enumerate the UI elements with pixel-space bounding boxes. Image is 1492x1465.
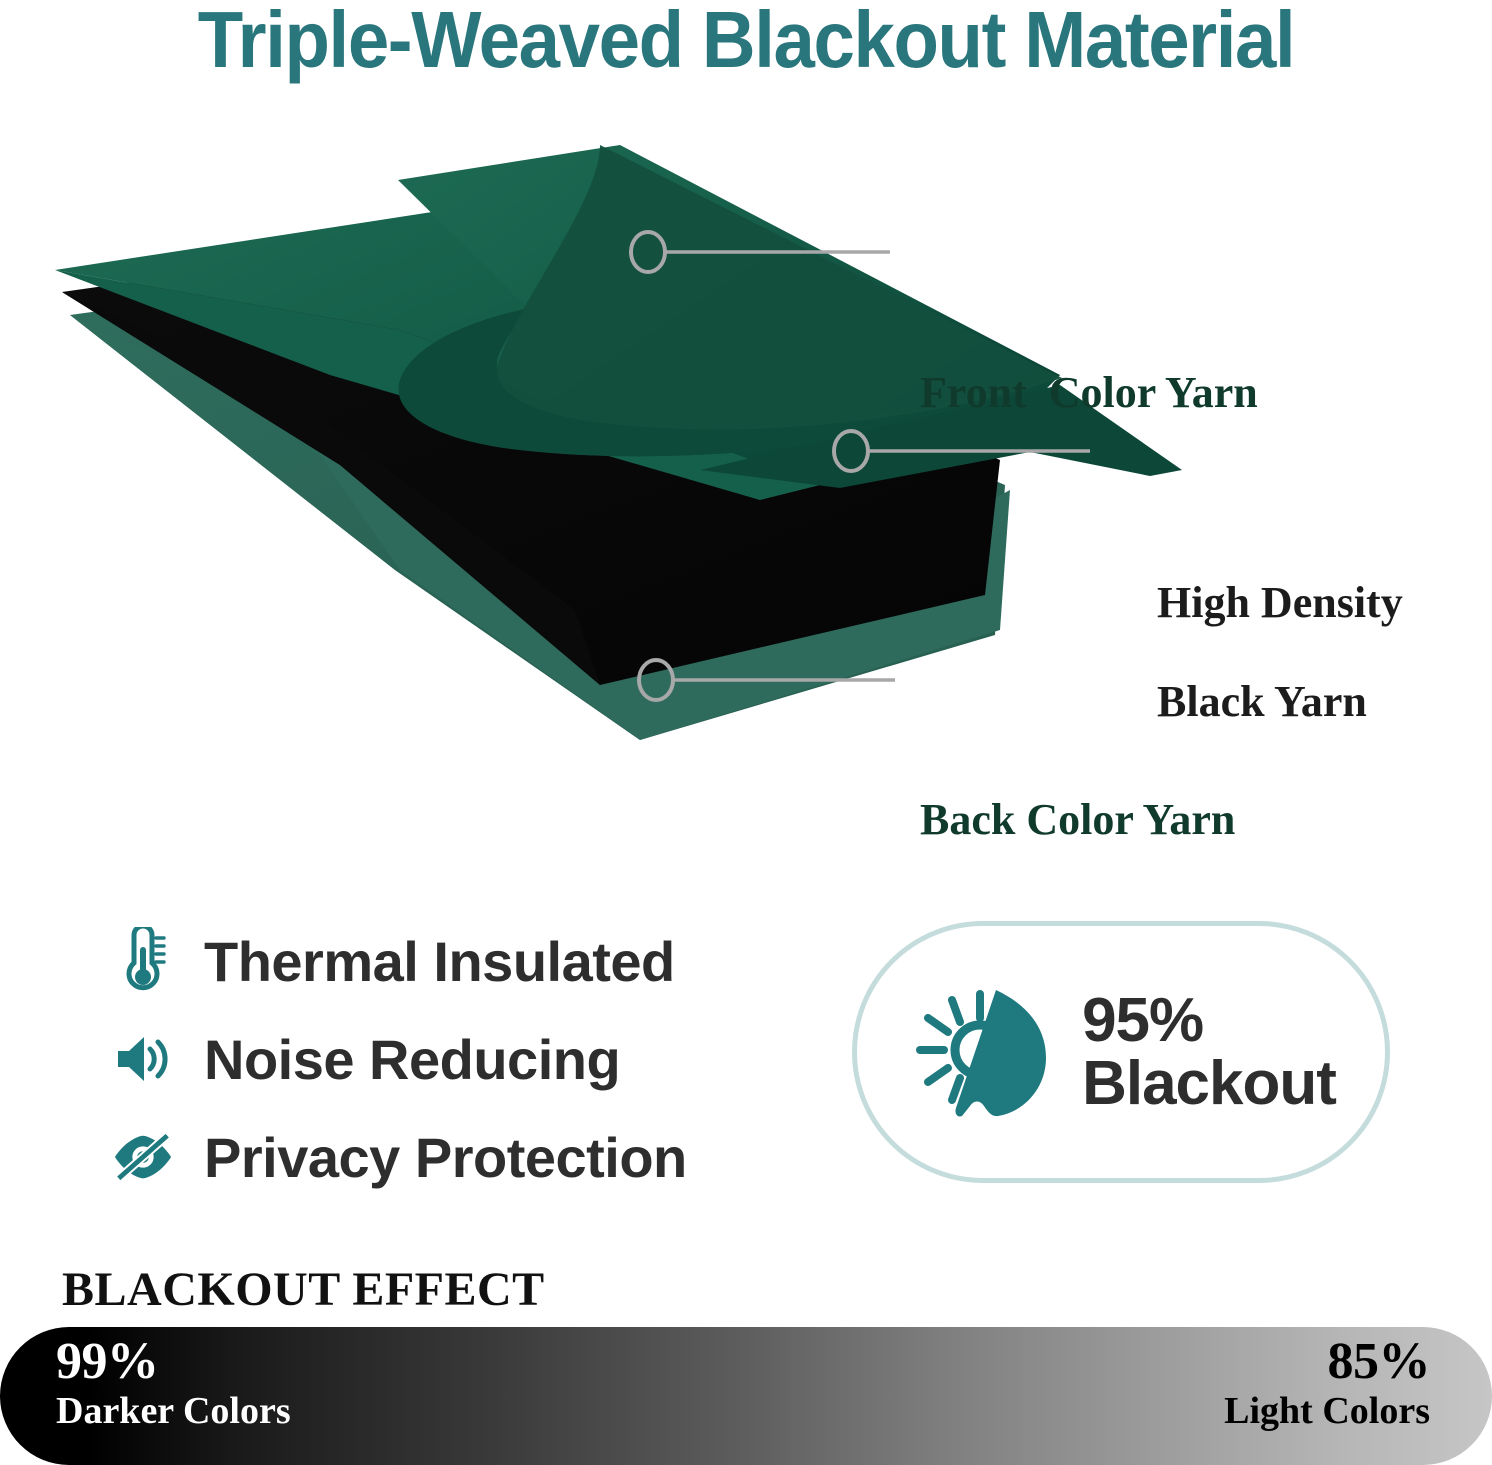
blackout-badge-text: 95% Blackout [1082,989,1336,1115]
blackout-effect-left-stat: 99% Darker Colors [56,1336,291,1430]
blackout-badge-word: Blackout [1082,1052,1336,1115]
left-stat-label: Darker Colors [56,1392,291,1430]
feature-label-thermal: Thermal Insulated [204,929,675,994]
blackout-percentage-badge: 95% Blackout [852,921,1390,1183]
right-stat-percent: 85% [1224,1336,1430,1388]
blackout-effect-heading: BLACKOUT EFFECT [62,1262,545,1317]
callout-label-back: Back Color Yarn [920,795,1235,844]
sun-blocked-by-curtain-icon [900,972,1060,1132]
eye-slash-icon [112,1122,174,1192]
feature-item-noise: Noise Reducing [112,1010,812,1108]
feature-item-privacy: Privacy Protection [112,1108,812,1206]
blackout-effect-right-stat: 85% Light Colors [1224,1336,1430,1430]
fabric-layers-diagram: Front Color Yarn High Density Black Yarn… [0,140,1492,800]
feature-label-privacy: Privacy Protection [204,1125,687,1190]
page-title: Triple-Weaved Blackout Material [52,0,1440,86]
feature-list: Thermal Insulated Noise Reducing Privacy… [112,912,812,1206]
right-stat-label: Light Colors [1224,1392,1430,1430]
blackout-badge-percent: 95% [1082,989,1336,1052]
feature-label-noise: Noise Reducing [204,1027,620,1092]
feature-item-thermal: Thermal Insulated [112,912,812,1010]
callout-label-black-line2: Black Yarn [1157,677,1367,726]
thermometer-icon [112,926,174,996]
speaker-sound-icon [112,1024,174,1094]
callout-label-black-line1: High Density [1157,578,1403,627]
callout-label-front: Front Color Yarn [920,368,1258,417]
callout-label-black: High Density Black Yarn [1113,529,1403,775]
left-stat-percent: 99% [56,1336,291,1388]
